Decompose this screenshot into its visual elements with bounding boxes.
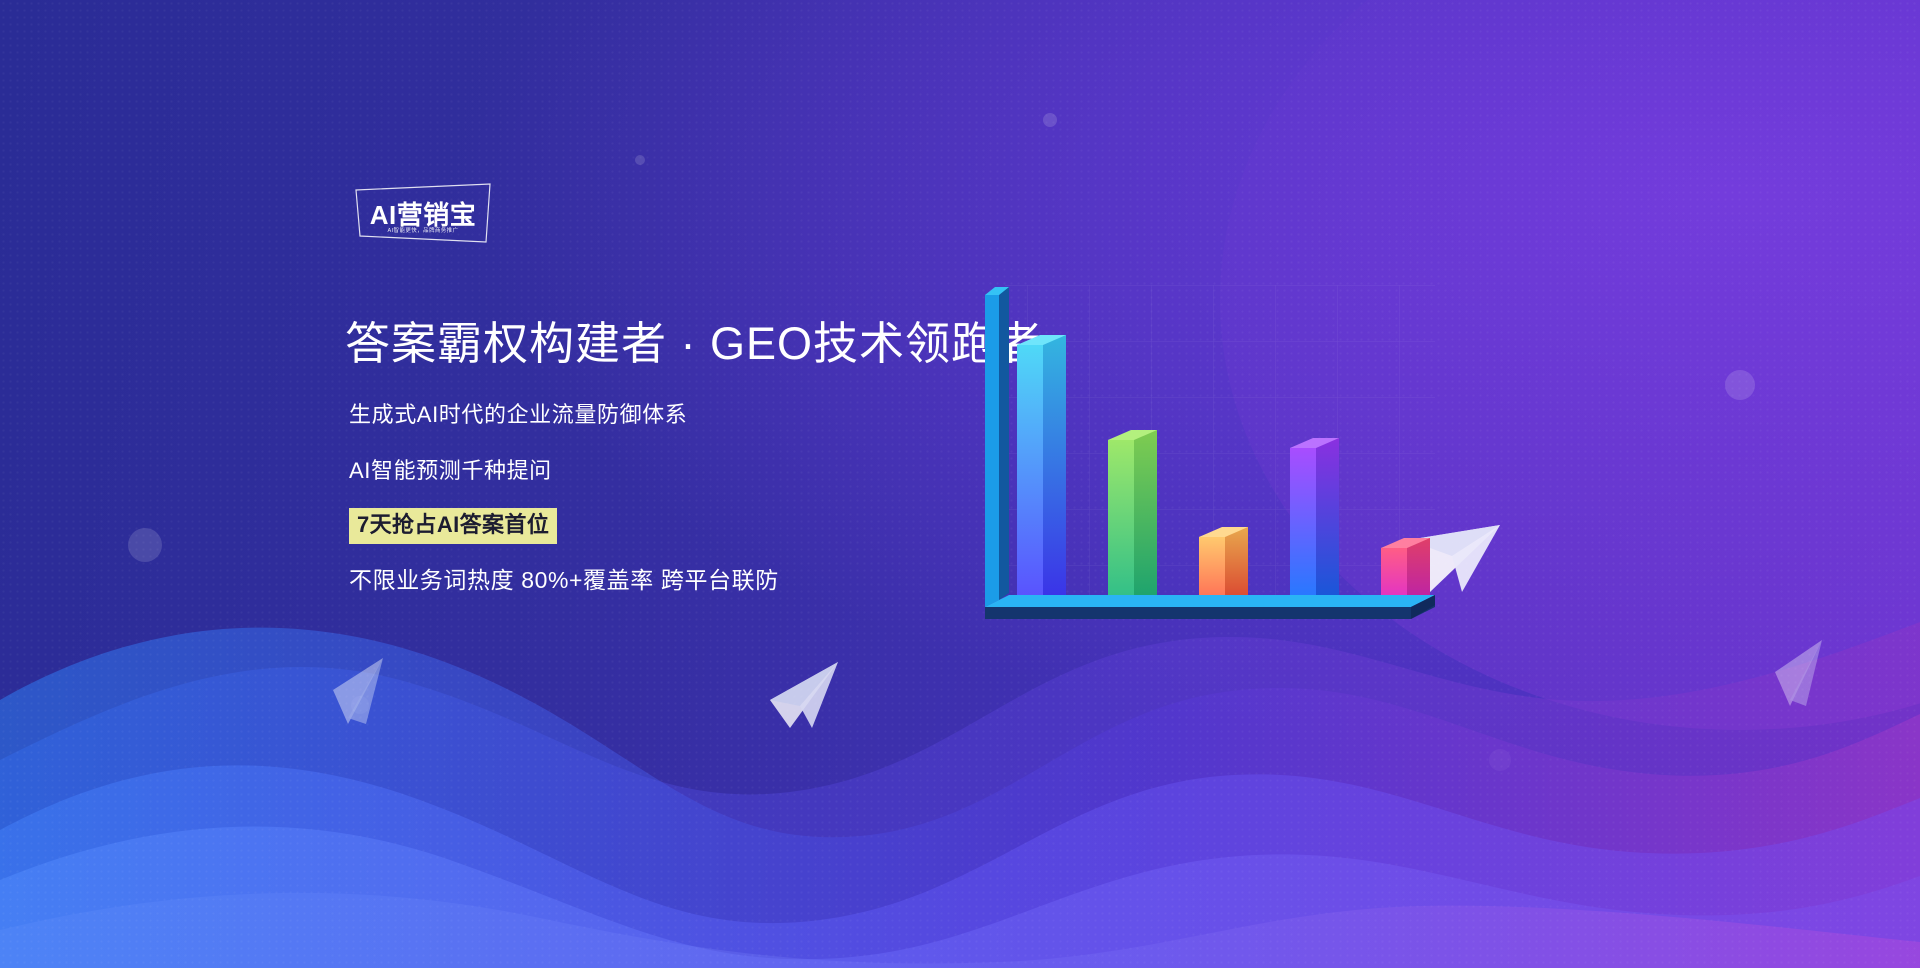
hero-subtitle-1: 生成式AI时代的企业流量防御体系 bbox=[349, 404, 687, 426]
chart-bar-4 bbox=[1290, 438, 1339, 607]
hero-subtitle-2: AI智能预测千种提问 bbox=[349, 460, 552, 482]
logo-wordmark: AI营销宝 bbox=[370, 202, 477, 228]
hero-feature-list: 不限业务词热度 80%+覆盖率 跨平台联防 bbox=[349, 569, 779, 592]
hero-highlight-text: 7天抢占AI答案首位 bbox=[357, 512, 549, 537]
chart-base bbox=[985, 595, 1435, 619]
chart-y-axis bbox=[985, 287, 1009, 607]
chart-bar-1 bbox=[1017, 335, 1066, 607]
logo-tagline: AI智能更快，品牌商务推广 bbox=[388, 229, 459, 235]
marketing-banner: AI营销宝 AI智能更快，品牌商务推广 答案霸权构建者 · GEO技术领跑者 生… bbox=[0, 0, 1920, 968]
hero-highlight-badge: 7天抢占AI答案首位 bbox=[349, 508, 557, 544]
page-title: 答案霸权构建者 · GEO技术领跑者 bbox=[345, 318, 1043, 370]
logo[interactable]: AI营销宝 AI智能更快，品牌商务推广 bbox=[353, 182, 493, 244]
chart-bar-2 bbox=[1108, 430, 1157, 607]
bar-chart-illustration bbox=[965, 285, 1485, 675]
